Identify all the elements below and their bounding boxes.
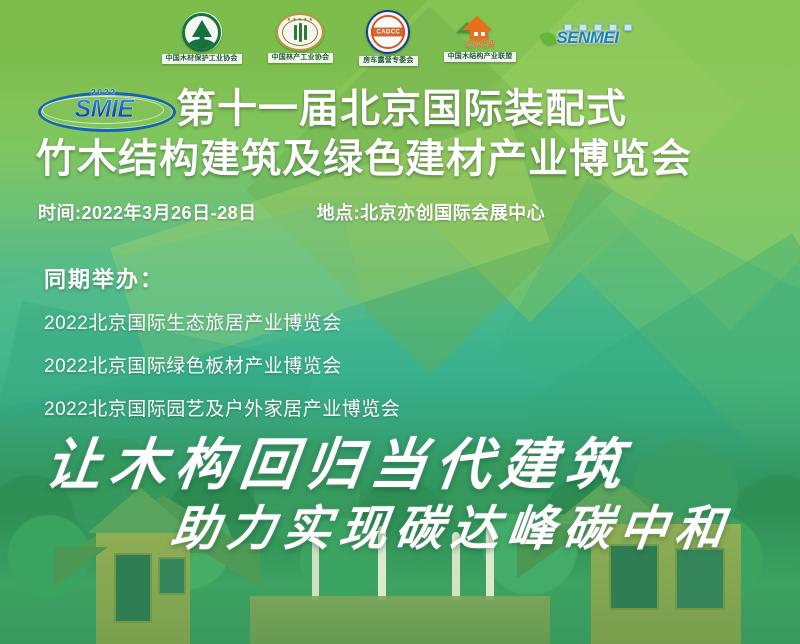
sponsor-logo-caption: 中国木材保护工业协会 <box>162 54 242 64</box>
event-meta: 时间:2022年3月26日-28日 地点:北京亦创国际会展中心 <box>38 199 778 225</box>
senmei-leaf-wordmark-icon: SENMEI <box>542 24 638 52</box>
sponsor-logo-china-wood-protection[interactable]: 中国木材保护工业协会 <box>162 12 242 64</box>
concurrent-event-item: 2022北京国际生态旅居产业博览会 <box>44 308 400 335</box>
sponsor-logo-caption: 中国木结构产业联盟 <box>444 52 517 62</box>
slogan-line-2: 助力实现碳达峰碳中和 <box>168 489 737 559</box>
sponsor-logo-bamboo-association[interactable]: ★★★★★ 中国林产工业协会 <box>268 13 334 63</box>
event-venue: 地点:北京亦创国际会展中心 <box>317 199 546 225</box>
sponsor-logo-cwsa[interactable]: CWSA 中国木结构产业联盟 <box>444 14 517 62</box>
tree-roundel-icon <box>182 12 222 52</box>
concurrent-event-item: 2022北京国际绿色板材产业博览会 <box>44 351 400 378</box>
sponsor-logo-caption: 房车露营专委会 <box>359 56 417 66</box>
senmei-wordmark-text: SENMEI <box>556 28 618 48</box>
sponsor-logo-senmei[interactable]: SENMEI <box>542 24 638 52</box>
concurrent-events-heading: 同期举办： <box>44 262 400 294</box>
cwsa-badge-text: CWSA <box>454 39 506 50</box>
smie-emblem: 2022 SMIE <box>38 87 170 131</box>
concurrent-event-item: 2022北京国际园艺及户外家居产业博览会 <box>44 394 400 421</box>
smie-wordmark-text: SMIE <box>38 96 170 122</box>
cadcc-roundel-icon: CADCC <box>366 10 410 54</box>
cwsa-house-icon: CWSA <box>454 14 506 50</box>
patio-deck-railing <box>250 596 550 644</box>
page-title-line-1: 第十一届北京国际装配式 <box>176 87 627 131</box>
exhibition-poster: 中国木材保护工业协会 ★★★★★ 中国林产工业协会 CADCC 房车露营专委会 <box>0 0 800 644</box>
concurrent-events-block: 同期举办： 2022北京国际生态旅居产业博览会 2022北京国际绿色板材产业博览… <box>44 262 400 437</box>
bamboo-oval-seal-icon: ★★★★★ <box>276 13 324 51</box>
cadcc-badge-text: CADCC <box>377 29 401 35</box>
event-date: 时间:2022年3月26日-28日 <box>38 199 257 225</box>
sponsor-logo-caption: 中国林产工业协会 <box>268 53 334 63</box>
page-title-line-2: 竹木结构建筑及绿色建材产业博览会 <box>0 136 800 182</box>
sponsor-logo-strip: 中国木材保护工业协会 ★★★★★ 中国林产工业协会 CADCC 房车露营专委会 <box>0 0 800 76</box>
sponsor-logo-cadcc[interactable]: CADCC 房车露营专委会 <box>359 10 417 66</box>
headline-block: 2022 SMIE 第十一届北京国际装配式 竹木结构建筑及绿色建材产业博览会 <box>0 84 800 182</box>
